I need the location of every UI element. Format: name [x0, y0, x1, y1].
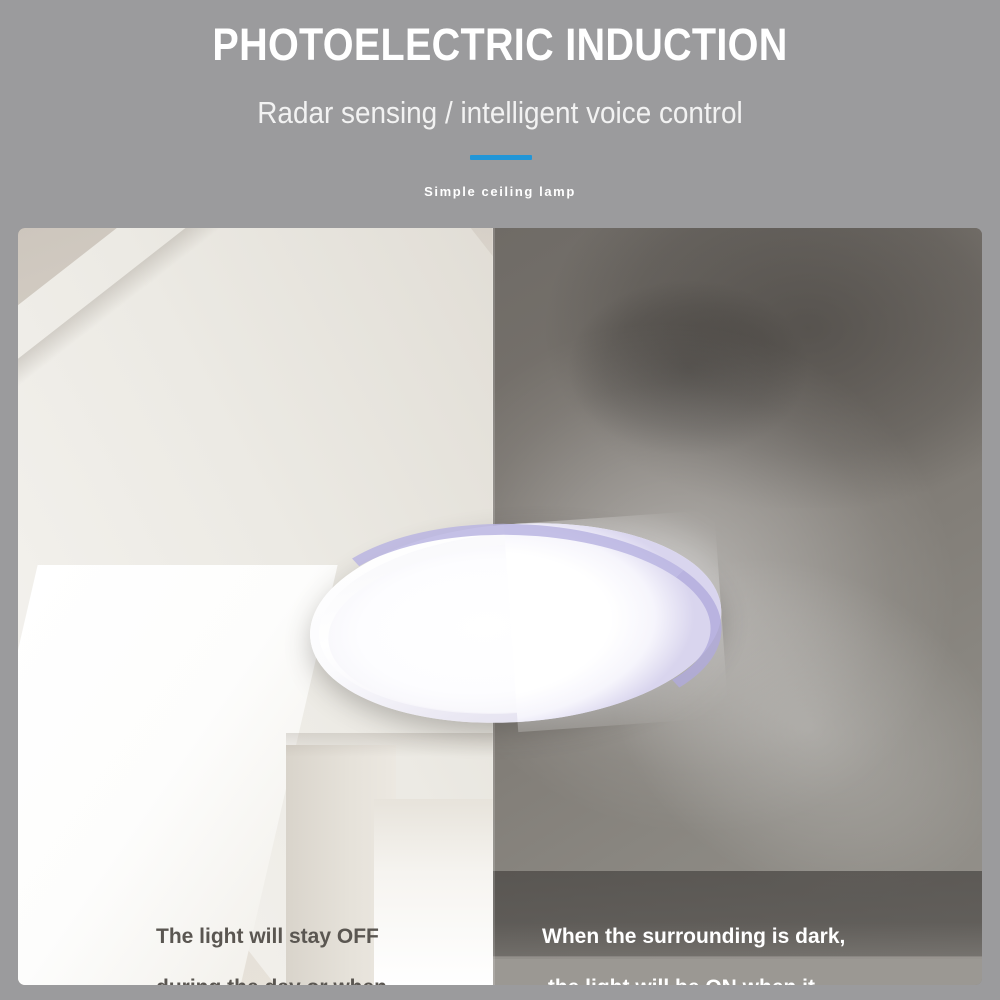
product-photo-panel: The light will stay OFF during the day o… [18, 228, 982, 985]
page-title: PHOTOELECTRIC INDUCTION [60, 18, 940, 72]
ceiling-lamp [303, 510, 729, 746]
caption-on-line-1: When the surrounding is dark, [542, 911, 942, 962]
accent-divider [470, 155, 532, 160]
caption-on-line-2: the light will be ON when it [542, 962, 942, 985]
caption-off-state: The light will stay OFF during the day o… [156, 911, 486, 985]
caption-on-state: When the surrounding is dark, the light … [542, 911, 942, 985]
caption-off-line-1: The light will stay OFF [156, 911, 486, 962]
page-subtitle: Radar sensing / intelligent voice contro… [50, 93, 950, 133]
product-caption: Simple ceiling lamp [0, 183, 1000, 201]
caption-off-line-2: during the day or when [156, 962, 486, 985]
header-block: PHOTOELECTRIC INDUCTION Radar sensing / … [0, 0, 1000, 228]
